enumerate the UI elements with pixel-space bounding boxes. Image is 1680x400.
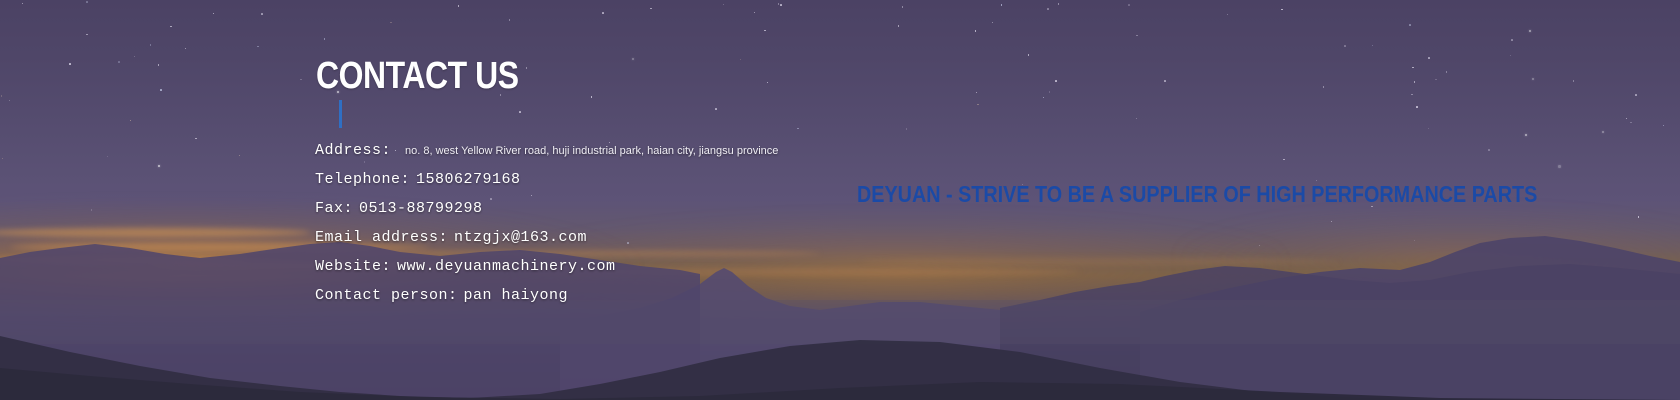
contact-label: Fax:	[315, 200, 353, 217]
contact-row: Email address:ntzgjx@163.com	[315, 229, 1095, 258]
contact-label: Address:	[315, 142, 391, 159]
banner-content: CONTACT US Address:no. 8, west Yellow Ri…	[315, 0, 1475, 400]
contact-banner: CONTACT US Address:no. 8, west Yellow Ri…	[0, 0, 1680, 400]
contact-row: Website:www.deyuanmachinery.com	[315, 258, 1095, 287]
contact-value: 15806279168	[416, 171, 521, 188]
contact-value: pan haiyong	[464, 287, 569, 304]
contact-details-list: Address:no. 8, west Yellow River road, h…	[315, 142, 1095, 316]
title-accent-bar	[339, 100, 342, 128]
contact-value: www.deyuanmachinery.com	[397, 258, 616, 275]
contact-label: Telephone:	[315, 171, 410, 188]
contact-value: no. 8, west Yellow River road, huji indu…	[405, 145, 778, 157]
contact-value: ntzgjx@163.com	[454, 229, 587, 246]
contact-label: Contact person:	[315, 287, 458, 304]
contact-label: Email address:	[315, 229, 448, 246]
contact-value: 0513-88799298	[359, 200, 483, 217]
company-slogan: DEYUAN - STRIVE TO BE A SUPPLIER OF HIGH…	[857, 183, 1537, 206]
contact-row: Address:no. 8, west Yellow River road, h…	[315, 142, 1095, 171]
contact-row: Contact person:pan haiyong	[315, 287, 1095, 316]
page-title: CONTACT US	[316, 57, 519, 95]
contact-label: Website:	[315, 258, 391, 275]
